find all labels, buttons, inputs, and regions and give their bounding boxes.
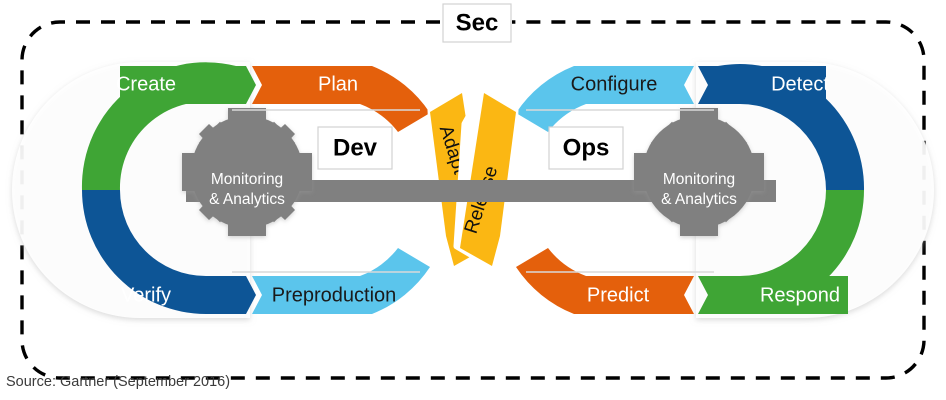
segment-create-top-run[interactable] xyxy=(120,66,230,104)
sec-badge-label: Sec xyxy=(456,9,499,36)
segment-configure-body[interactable] xyxy=(516,66,694,132)
sec-badge: Sec xyxy=(443,4,511,42)
segment-configure[interactable]: Configure xyxy=(516,66,694,132)
source-note: Source: Gartner (September 2016) xyxy=(6,374,230,390)
segment-detect-top-run[interactable] xyxy=(716,66,826,104)
segment-predict[interactable]: Predict xyxy=(516,248,694,314)
segment-preproduction-body[interactable] xyxy=(252,248,430,314)
ops-badge: Ops xyxy=(549,127,623,169)
gear-left-label-line1: Monitoring xyxy=(211,171,283,188)
segment-predict-body[interactable] xyxy=(516,248,694,314)
diagram-canvas: Sec Create Plan Verify xyxy=(0,0,946,400)
ops-badge-label: Ops xyxy=(563,134,610,161)
dev-badge-label: Dev xyxy=(333,134,378,161)
segment-preproduction[interactable]: Preproduction xyxy=(252,248,430,314)
gear-right-label-line2: & Analytics xyxy=(661,191,737,208)
segment-plan-body[interactable] xyxy=(252,66,430,132)
crossover-release[interactable]: Release xyxy=(457,92,516,266)
devsecops-infinity-diagram: Sec Create Plan Verify xyxy=(0,0,946,400)
gear-right-label-line1: Monitoring xyxy=(663,171,735,188)
dev-badge: Dev xyxy=(318,127,392,169)
segment-plan[interactable]: Plan xyxy=(252,66,430,132)
segment-respond-bottom-run[interactable] xyxy=(738,276,848,314)
gear-left-label-line2: & Analytics xyxy=(209,191,285,208)
crossover-group: Adapt Release xyxy=(430,92,516,266)
segment-create-tip[interactable] xyxy=(226,66,256,104)
